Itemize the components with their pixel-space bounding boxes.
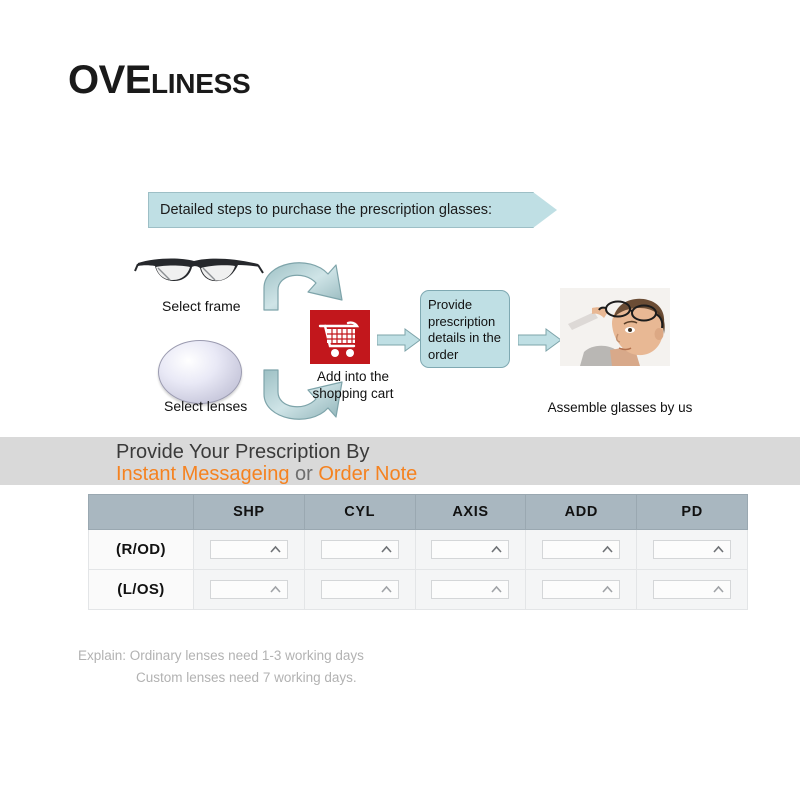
purchase-steps-diagram: Detailed steps to purchase the prescript…: [120, 160, 720, 430]
explain-note: Explain: Ordinary lenses need 1-3 workin…: [78, 645, 364, 689]
stepper-r-add[interactable]: [542, 540, 620, 559]
column-header-shp: SHP: [194, 495, 305, 530]
diagram-banner-text: Detailed steps to purchase the prescript…: [160, 192, 492, 228]
chevron-up-icon[interactable]: [269, 543, 282, 556]
brand-logo: OVELINESS: [68, 58, 250, 103]
prescription-table-wrapper: SHP CYL AXIS ADD PD (R/OD): [88, 494, 748, 606]
cell-r-shp[interactable]: [194, 530, 305, 570]
cell-r-axis[interactable]: [415, 530, 526, 570]
stepper-l-axis[interactable]: [431, 580, 509, 599]
cell-l-cyl[interactable]: [304, 570, 415, 610]
shopping-cart-icon: [310, 310, 370, 364]
chevron-up-icon[interactable]: [380, 543, 393, 556]
step-label-add-to-cart-line1: Add into the: [317, 369, 389, 384]
brand-logo-main: OVE: [68, 58, 151, 102]
step-label-add-to-cart: Add into the shopping cart: [298, 368, 408, 402]
stepper-l-add[interactable]: [542, 580, 620, 599]
flow-arrow-right-icon-1: [377, 328, 421, 352]
stepper-l-shp[interactable]: [210, 580, 288, 599]
eyeglasses-icon: [134, 255, 264, 293]
chevron-up-icon[interactable]: [490, 543, 503, 556]
prescription-headline-line2: Instant Messageing or Order Note: [116, 463, 417, 486]
explain-line1: Ordinary lenses need 1-3 working days: [130, 648, 364, 663]
table-row: (L/OS): [89, 570, 748, 610]
step-label-add-to-cart-line2: shopping cart: [312, 386, 393, 401]
explain-line2: Custom lenses need 7 working days.: [136, 670, 357, 685]
brand-logo-sub: LINESS: [151, 68, 250, 99]
column-header-add: ADD: [526, 495, 637, 530]
prescription-headline-line1: Provide Your Prescription By: [116, 441, 369, 464]
stepper-l-pd[interactable]: [653, 580, 731, 599]
step-label-select-frame: Select frame: [162, 298, 241, 314]
step-label-select-lenses: Select lenses: [164, 398, 247, 414]
flow-arrow-right-icon-2: [518, 328, 562, 352]
cell-l-shp[interactable]: [194, 570, 305, 610]
row-label-right-eye: (R/OD): [89, 530, 194, 570]
cell-l-pd[interactable]: [637, 570, 748, 610]
column-header-cyl: CYL: [304, 495, 415, 530]
stepper-r-pd[interactable]: [653, 540, 731, 559]
chevron-up-icon[interactable]: [712, 543, 725, 556]
explain-label: Explain:: [78, 648, 126, 663]
chevron-up-icon[interactable]: [269, 583, 282, 596]
stepper-l-cyl[interactable]: [321, 580, 399, 599]
table-header-row: SHP CYL AXIS ADD PD: [89, 495, 748, 530]
cell-r-pd[interactable]: [637, 530, 748, 570]
lens-blank-icon: [158, 340, 242, 404]
table-corner-header: [89, 495, 194, 530]
cell-r-cyl[interactable]: [304, 530, 415, 570]
chevron-up-icon[interactable]: [380, 583, 393, 596]
table-row: (R/OD): [89, 530, 748, 570]
cell-l-add[interactable]: [526, 570, 637, 610]
prescription-table: SHP CYL AXIS ADD PD (R/OD): [88, 494, 748, 610]
provide-prescription-box: Provide prescription details in the orde…: [420, 290, 510, 368]
stepper-r-shp[interactable]: [210, 540, 288, 559]
man-wearing-glasses-photo: [560, 288, 670, 366]
stepper-r-axis[interactable]: [431, 540, 509, 559]
chevron-up-icon[interactable]: [490, 583, 503, 596]
cell-r-add[interactable]: [526, 530, 637, 570]
diagram-banner: Detailed steps to purchase the prescript…: [148, 192, 558, 228]
headline-conjunction: or: [289, 463, 318, 485]
step-label-assemble: Assemble glasses by us: [540, 400, 700, 415]
column-header-pd: PD: [637, 495, 748, 530]
chevron-up-icon[interactable]: [601, 583, 614, 596]
cell-l-axis[interactable]: [415, 570, 526, 610]
headline-instant-messaging: Instant Messageing: [116, 463, 289, 485]
diagram-banner-arrow-tip: [533, 192, 557, 228]
stepper-r-cyl[interactable]: [321, 540, 399, 559]
column-header-axis: AXIS: [415, 495, 526, 530]
row-label-left-eye: (L/OS): [89, 570, 194, 610]
chevron-up-icon[interactable]: [712, 583, 725, 596]
headline-order-note: Order Note: [318, 463, 417, 485]
chevron-up-icon[interactable]: [601, 543, 614, 556]
